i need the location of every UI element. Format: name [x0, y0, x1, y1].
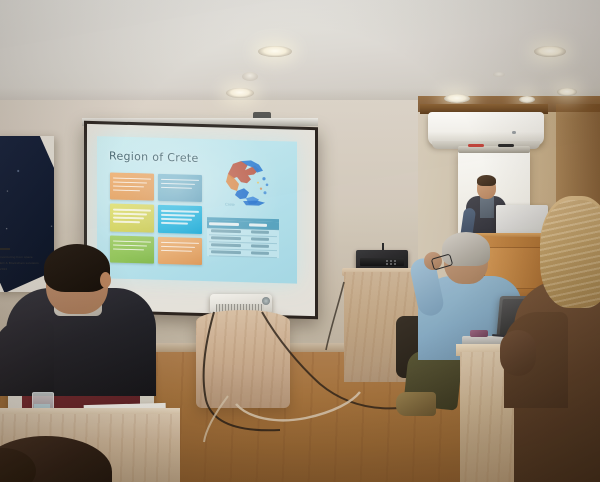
attendee-suit-shoulder	[0, 320, 54, 396]
slide-box-bottom-left	[110, 235, 154, 264]
projector-lens-icon	[262, 297, 270, 305]
attendee-suit-hair	[44, 244, 110, 292]
red-marker-icon	[468, 144, 484, 147]
attendee-right-shoe	[396, 392, 436, 416]
banner-text-line-3: 2022	[0, 267, 50, 271]
screen-surface: Region of Crete	[87, 124, 315, 316]
downlight-icon	[444, 94, 470, 103]
small-pouch	[470, 330, 488, 337]
slide-statistics-table	[207, 217, 279, 258]
downlight-icon	[226, 88, 254, 98]
round-draped-table	[196, 310, 290, 408]
downlight-icon	[557, 88, 577, 96]
conference-room-photo: Pa Region of Crete	[0, 0, 600, 482]
receiver-front-panel	[360, 258, 404, 266]
map-of-greece-icon	[215, 157, 273, 211]
attendee-blonde-hair-strands	[540, 200, 600, 308]
slide-box-top-left	[110, 172, 154, 201]
sprinkler-icon	[493, 72, 505, 77]
speaker-hair	[477, 175, 496, 186]
slide-content-boxes	[110, 172, 202, 265]
downlight-icon	[258, 46, 292, 57]
table-row	[209, 249, 277, 258]
flipchart-clamp	[458, 146, 530, 153]
attendee-brown-jacket-arm	[500, 330, 536, 376]
black-marker-icon	[498, 144, 514, 147]
speaker-shirt	[480, 196, 494, 218]
banner-divider	[0, 248, 10, 250]
smoke-detector-icon	[242, 72, 258, 81]
ac-indicator-led	[512, 131, 516, 134]
downlight-icon	[519, 96, 535, 103]
projected-slide: Region of Crete	[97, 136, 297, 284]
attendee-suit-ear	[100, 272, 111, 288]
map-caption: Crete	[225, 202, 235, 207]
slide-box-middle-right	[158, 205, 202, 234]
downlight-icon	[534, 46, 566, 57]
slide-box-top-right	[158, 174, 202, 203]
banner-text-line-1: monitoring from space	[0, 255, 50, 259]
slide-box-bottom-right	[158, 236, 202, 265]
slide-title: Region of Crete	[109, 149, 199, 165]
slide-box-middle-left	[110, 204, 154, 233]
banner-text-line-2: EO & Blockchain solutions	[0, 261, 50, 265]
